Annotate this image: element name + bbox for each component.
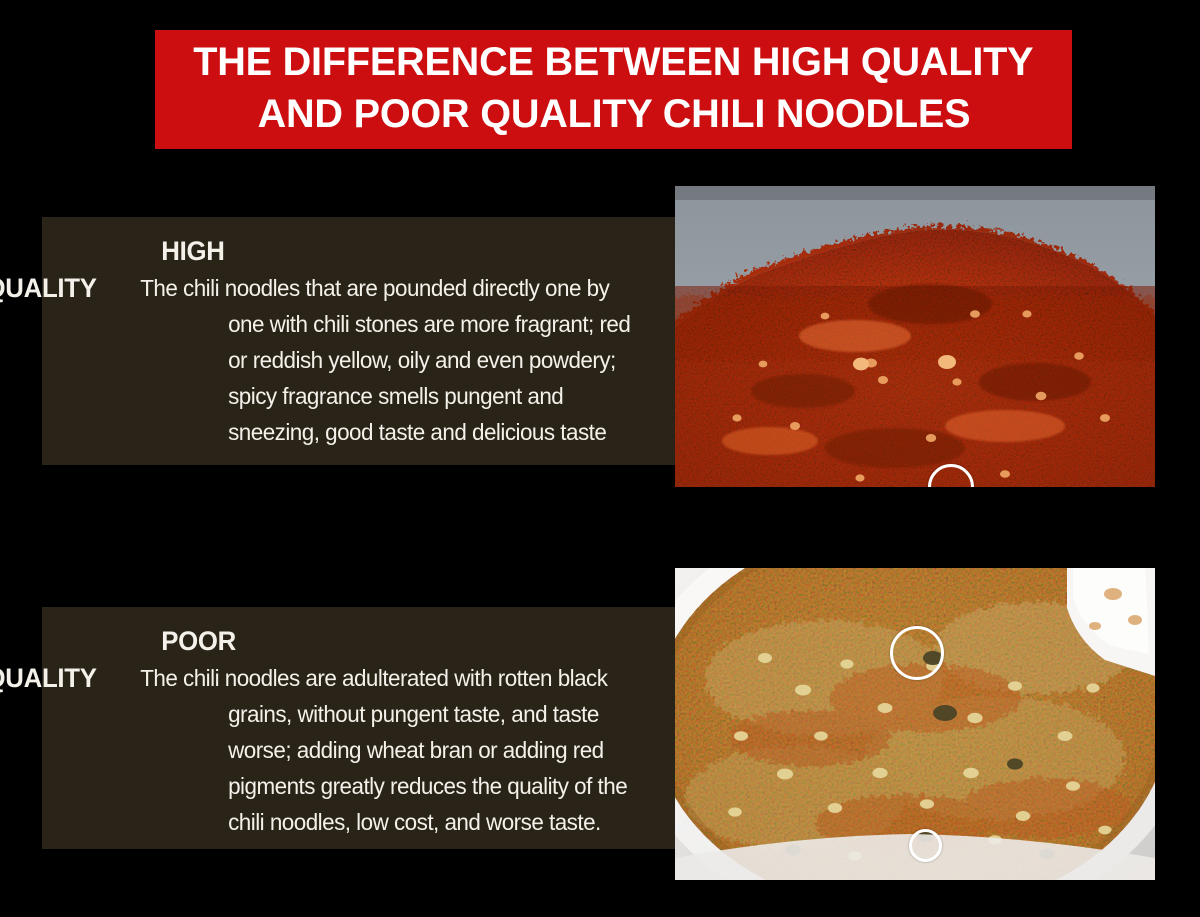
high-quality-photo — [675, 186, 1155, 487]
poor-quality-marker-2 — [909, 829, 942, 862]
poor-quality-description: The chili noodles are adulterated with r… — [134, 660, 644, 840]
poor-quality-panel: POOR QUALITY The chili noodles are adult… — [42, 607, 688, 849]
poor-quality-marker-1 — [890, 626, 944, 680]
high-quality-panel: HIGH QUALITY The chili noodles that are … — [42, 217, 688, 465]
title-line-1: THE DIFFERENCE BETWEEN HIGH QUALITY — [193, 36, 1033, 88]
title-banner: THE DIFFERENCE BETWEEN HIGH QUALITY AND … — [155, 30, 1072, 149]
poor-quality-photo — [675, 568, 1155, 880]
high-quality-grade-line-2: QUALITY — [0, 270, 97, 307]
poor-quality-panel-body: POOR QUALITY The chili noodles are adult… — [60, 623, 644, 840]
high-quality-grade-line-1: HIGH — [161, 233, 644, 270]
poor-quality-grade-line-1: POOR — [161, 623, 644, 660]
poor-quality-grade-line-2: QUALITY — [0, 660, 97, 697]
high-quality-photo-image — [675, 186, 1155, 487]
infographic-root: THE DIFFERENCE BETWEEN HIGH QUALITY AND … — [0, 0, 1200, 917]
high-quality-description: The chili noodles that are pounded direc… — [134, 270, 644, 450]
title-line-2: AND POOR QUALITY CHILI NOODLES — [257, 88, 970, 140]
high-quality-panel-body: HIGH QUALITY The chili noodles that are … — [60, 233, 644, 450]
